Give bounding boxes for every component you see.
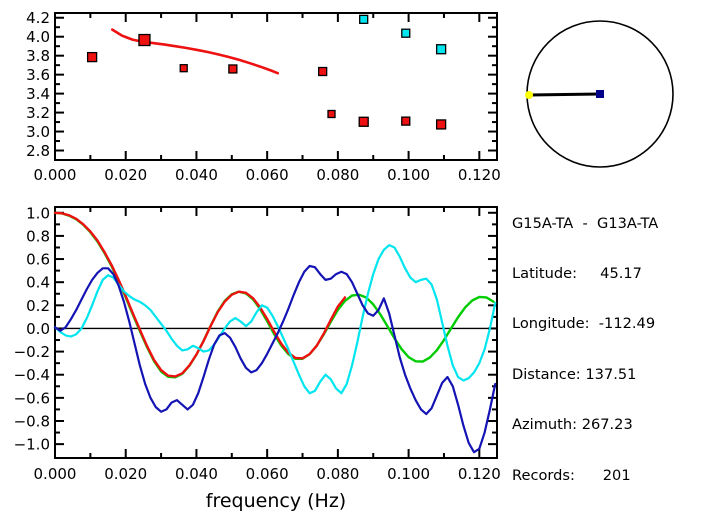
x-tick-label: 0.000	[34, 465, 77, 483]
y-tick-label: 3.6	[26, 66, 50, 84]
x-tick-label: 0.080	[316, 166, 359, 184]
y-tick-label: 2.8	[26, 142, 50, 160]
x-tick-label: 0.060	[246, 465, 289, 483]
y-tick-label: −0.6	[14, 389, 50, 407]
y-tick-label: 3.0	[26, 123, 50, 141]
y-tick-label: −0.4	[14, 366, 50, 384]
x-tick-label: 0.100	[387, 166, 430, 184]
y-tick-label: 0.4	[26, 274, 50, 292]
cyan-curve	[55, 245, 495, 393]
x-tick-label: 0.080	[316, 465, 359, 483]
station-pair-title: G15A-TA - G13A-TA	[512, 216, 703, 233]
data-point-marker	[437, 45, 446, 54]
data-point-marker	[88, 53, 97, 62]
receiver-station-dot	[596, 90, 604, 98]
red-curve	[55, 213, 345, 377]
phase-velocity-panel: 2.83.03.23.43.63.84.04.20.0000.0200.0400…	[0, 0, 510, 192]
y-tick-label: 4.2	[26, 9, 50, 27]
y-tick-label: 1.0	[26, 204, 50, 222]
y-tick-label: 0.2	[26, 297, 50, 315]
data-point-marker	[229, 65, 237, 73]
y-tick-label: 3.2	[26, 104, 50, 122]
x-tick-label: 0.000	[34, 166, 77, 184]
phase-velocity-svg: 2.83.03.23.43.63.84.04.20.0000.0200.0400…	[0, 0, 510, 192]
cross-correlation-panel: −1.0−0.8−0.6−0.4−0.20.00.20.40.60.81.00.…	[0, 192, 510, 519]
data-point-marker	[328, 111, 335, 118]
distance-row: Distance: 137.51	[512, 367, 703, 384]
data-point-marker	[139, 35, 150, 46]
great-circle-map	[505, 4, 703, 180]
azimuth-row: Azimuth: 267.23	[512, 417, 703, 434]
plot-frame	[55, 207, 497, 458]
data-point-marker	[402, 29, 410, 37]
y-tick-label: 4.0	[26, 28, 50, 46]
y-tick-label: 0.6	[26, 251, 50, 269]
data-point-marker	[437, 120, 446, 129]
data-point-marker	[319, 68, 327, 76]
y-tick-label: 3.8	[26, 47, 50, 65]
data-point-marker	[402, 117, 410, 125]
longitude-row: Longitude: -112.49	[512, 316, 703, 333]
y-tick-label: 3.4	[26, 85, 50, 103]
y-tick-label: 0.8	[26, 227, 50, 245]
x-axis-title: frequency (Hz)	[206, 490, 346, 512]
x-tick-label: 0.120	[458, 166, 501, 184]
x-tick-label: 0.040	[175, 166, 218, 184]
data-point-marker	[360, 15, 368, 23]
x-tick-label: 0.020	[104, 166, 147, 184]
y-tick-label: −0.2	[14, 343, 50, 361]
source-station-dot	[525, 91, 533, 99]
data-point-marker	[180, 65, 187, 72]
y-tick-label: −1.0	[14, 436, 50, 454]
x-tick-label: 0.020	[104, 465, 147, 483]
great-circle-map-svg	[505, 4, 703, 180]
x-tick-label: 0.100	[387, 465, 430, 483]
data-point-marker	[359, 117, 368, 126]
cross-correlation-svg: −1.0−0.8−0.6−0.4−0.20.00.20.40.60.81.00.…	[0, 192, 510, 519]
reference-curve	[112, 30, 277, 74]
station-info-panel: G15A-TA - G13A-TA Latitude: 45.17 Longit…	[512, 182, 703, 501]
x-tick-label: 0.040	[175, 465, 218, 483]
y-tick-label: −0.8	[14, 412, 50, 430]
station-path-line	[529, 94, 600, 95]
latitude-row: Latitude: 45.17	[512, 266, 703, 283]
x-tick-label: 0.060	[246, 166, 289, 184]
x-tick-label: 0.120	[458, 465, 501, 483]
records-row: Records: 201	[512, 468, 703, 485]
y-tick-label: 0.0	[26, 320, 50, 338]
